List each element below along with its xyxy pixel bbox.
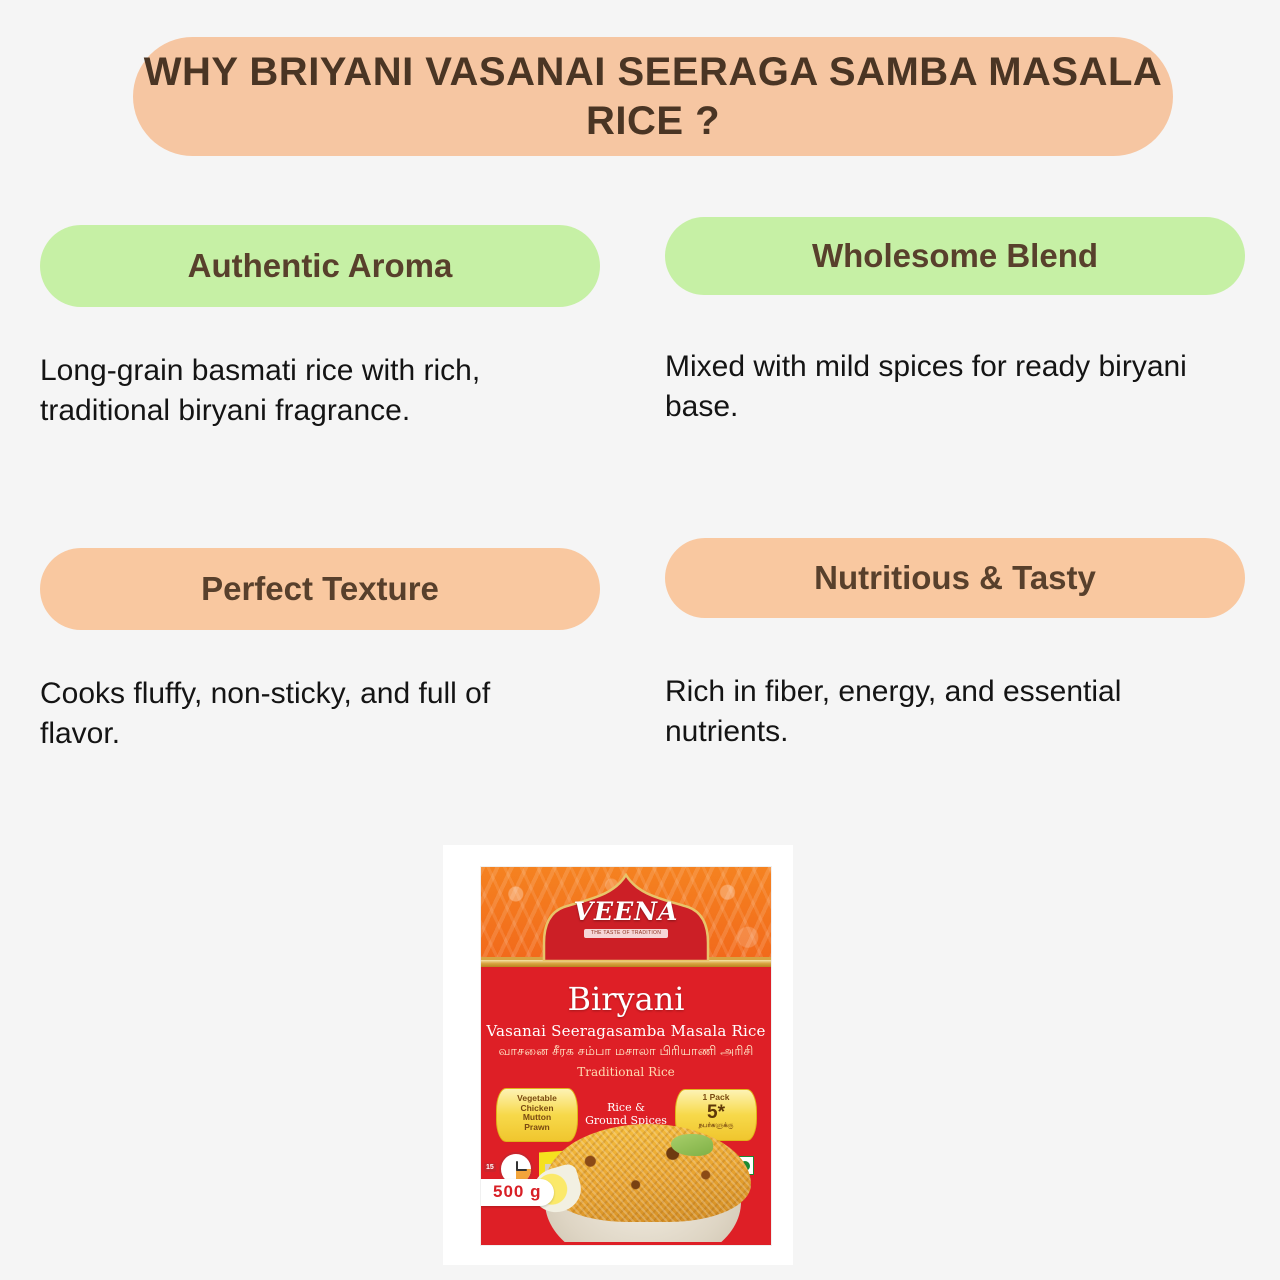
feature-label-wholesome-blend: Wholesome Blend xyxy=(812,237,1098,275)
green-garnish xyxy=(671,1134,713,1156)
page-title: WHY BRIYANI VASANAI SEERAGA SAMBA MASALA… xyxy=(133,48,1173,146)
feature-card-authentic-aroma: Authentic Aroma Long-grain basmati rice … xyxy=(0,225,640,430)
feature-label-nutritious-tasty: Nutritious & Tasty xyxy=(814,559,1096,597)
feature-pill-perfect-texture[interactable]: Perfect Texture xyxy=(40,548,600,630)
biryani-food-photo xyxy=(529,1107,771,1242)
package-header-ornament: VEENA THE TASTE OF TRADITION xyxy=(481,867,771,960)
cook-time-value: 15 xyxy=(484,1163,496,1172)
feature-label-authentic-aroma: Authentic Aroma xyxy=(188,247,453,285)
product-title: Biryani xyxy=(481,983,771,1015)
feature-card-wholesome-blend: Wholesome Blend Mixed with mild spices f… xyxy=(640,225,1280,430)
feature-card-perfect-texture: Perfect Texture Cooks fluffy, non-sticky… xyxy=(0,548,640,753)
net-weight-badge: 500 g xyxy=(481,1179,554,1206)
feature-body-wholesome-blend: Mixed with mild spices for ready biryani… xyxy=(665,347,1195,426)
feature-pill-nutritious-tasty[interactable]: Nutritious & Tasty xyxy=(665,538,1245,618)
clock-hour-hand xyxy=(516,1169,527,1171)
gold-divider xyxy=(481,960,771,967)
product-subtitle: Vasanai Seeragasamba Masala Rice xyxy=(481,1022,771,1040)
feature-card-nutritious-tasty: Nutritious & Tasty Rich in fiber, energy… xyxy=(640,548,1280,753)
feature-body-perfect-texture: Cooks fluffy, non-sticky, and full of fl… xyxy=(40,674,570,753)
feature-body-authentic-aroma: Long-grain basmati rice with rich, tradi… xyxy=(40,351,570,430)
feature-grid: Authentic Aroma Long-grain basmati rice … xyxy=(0,225,1280,753)
brand-tagline: THE TASTE OF TRADITION xyxy=(584,929,668,938)
product-image-panel: VEENA THE TASTE OF TRADITION Biryani Vas… xyxy=(443,845,793,1265)
product-subtitle-tamil: வாசனை சீரக சம்பா மசாலா பிரியாணி அரிசி xyxy=(481,1044,771,1060)
feature-pill-wholesome-blend[interactable]: Wholesome Blend xyxy=(665,217,1245,295)
brand-logo-veena: VEENA xyxy=(574,897,679,926)
page-title-banner: WHY BRIYANI VASANAI SEERAGA SAMBA MASALA… xyxy=(133,37,1173,156)
product-package-box: VEENA THE TASTE OF TRADITION Biryani Vas… xyxy=(481,867,771,1245)
package-body: Biryani Vasanai Seeragasamba Masala Rice… xyxy=(481,967,771,1242)
feature-row-top: Authentic Aroma Long-grain basmati rice … xyxy=(0,225,1280,430)
feature-label-perfect-texture: Perfect Texture xyxy=(201,570,439,608)
feature-pill-authentic-aroma[interactable]: Authentic Aroma xyxy=(40,225,600,307)
feature-row-bottom: Perfect Texture Cooks fluffy, non-sticky… xyxy=(0,548,1280,753)
product-descriptor: Traditional Rice xyxy=(481,1065,771,1079)
feature-body-nutritious-tasty: Rich in fiber, energy, and essential nut… xyxy=(665,672,1195,751)
